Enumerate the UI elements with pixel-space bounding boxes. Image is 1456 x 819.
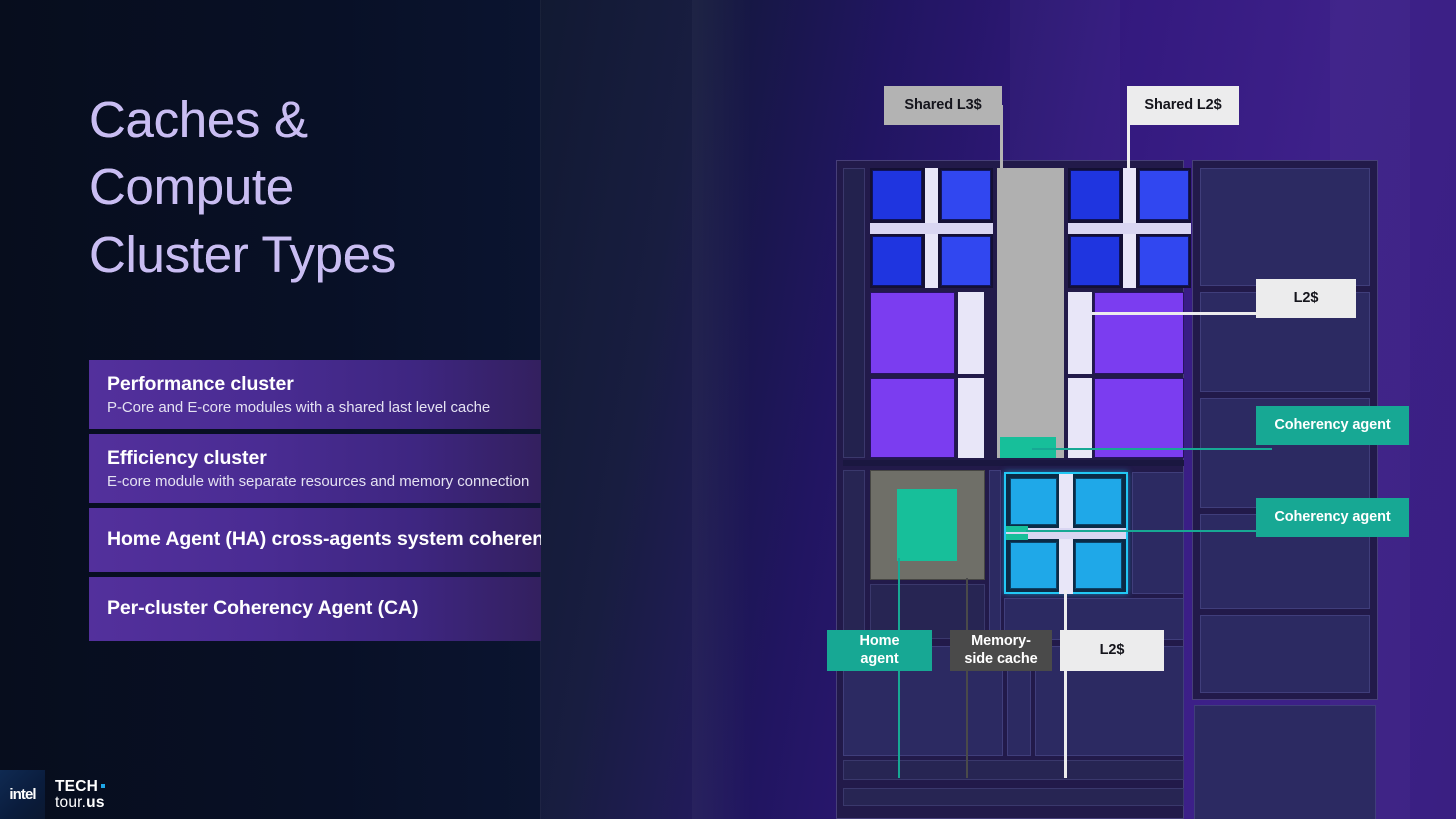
ecore-module-top-right bbox=[1068, 168, 1191, 288]
ecore-core bbox=[1070, 170, 1120, 220]
slide-root: Caches & Compute Cluster Types Performan… bbox=[0, 0, 1456, 819]
callout-label: Shared L3$ bbox=[904, 97, 981, 114]
intel-wordmark: intel bbox=[9, 787, 35, 802]
pcore-l2-cache bbox=[958, 292, 984, 374]
bullet-title: Performance cluster bbox=[107, 373, 541, 396]
tech-tour-wordmark: TECH tour.us bbox=[55, 779, 105, 811]
callout-coherency-agent-1[interactable]: Coherency agent bbox=[1256, 406, 1409, 445]
bullet-list: Performance cluster P-Core and E-core mo… bbox=[89, 360, 541, 646]
tour-text: tour.us bbox=[55, 795, 105, 811]
ecore-core bbox=[1139, 170, 1189, 220]
bullet-title: Per-cluster Coherency Agent (CA) bbox=[107, 597, 541, 620]
pcore-block bbox=[1094, 292, 1184, 374]
shared-l2-cache-horizontal bbox=[1068, 223, 1191, 234]
ecore-core bbox=[1139, 236, 1189, 286]
bullet-item-performance-cluster[interactable]: Performance cluster P-Core and E-core mo… bbox=[89, 360, 541, 429]
coherency-agent-block-efficiency bbox=[1006, 526, 1028, 532]
die-left-io-strip-lower bbox=[843, 470, 865, 640]
pcore-block bbox=[1094, 378, 1184, 458]
tech-text: TECH bbox=[55, 779, 98, 795]
callout-coherency-agent-2[interactable]: Coherency agent bbox=[1256, 498, 1409, 537]
callout-l2-bottom[interactable]: L2$ bbox=[1060, 630, 1164, 671]
die-right-block bbox=[1200, 168, 1370, 286]
page-title: Caches & Compute Cluster Types bbox=[89, 86, 529, 288]
coherency-agent-block-efficiency-2 bbox=[1006, 534, 1028, 540]
leader-line-l2-right bbox=[1092, 312, 1272, 315]
callout-shared-l3[interactable]: Shared L3$ bbox=[884, 86, 1002, 125]
callout-label-line-2: side cache bbox=[964, 651, 1037, 668]
efficiency-cluster-highlight bbox=[1004, 472, 1128, 594]
callout-label-line-2: agent bbox=[860, 651, 898, 668]
die-right-block-lower bbox=[1194, 705, 1376, 819]
ecore-core bbox=[872, 170, 922, 220]
ecore-core bbox=[941, 236, 991, 286]
ecore-core-efficiency bbox=[1010, 478, 1057, 525]
callout-label: L2$ bbox=[1294, 290, 1319, 307]
callout-shared-l2[interactable]: Shared L2$ bbox=[1127, 86, 1239, 125]
bullet-subtitle: P-Core and E-core modules with a shared … bbox=[107, 399, 541, 416]
die-shot-diagram bbox=[836, 160, 1456, 819]
title-line-2: Compute bbox=[89, 153, 529, 220]
ecore-core-efficiency bbox=[1075, 542, 1122, 589]
memory-side-cache-block bbox=[870, 470, 985, 580]
pcore-block bbox=[870, 378, 955, 458]
bullet-title: Home Agent (HA) cross-agents system cohe… bbox=[107, 528, 541, 551]
bullet-item-home-agent[interactable]: Home Agent (HA) cross-agents system cohe… bbox=[89, 508, 541, 572]
callout-home-agent[interactable]: Home agent bbox=[827, 630, 932, 671]
home-agent-block bbox=[897, 489, 957, 561]
callout-label: L2$ bbox=[1100, 642, 1125, 659]
shared-l3-cache-block bbox=[997, 168, 1064, 458]
die-block bbox=[989, 470, 1001, 640]
ecore-module-top-left bbox=[870, 168, 993, 288]
bullet-subtitle: E-core module with separate resources an… bbox=[107, 473, 541, 490]
leader-line-coherency-agent-2 bbox=[1026, 530, 1272, 532]
leader-line-l2-bottom bbox=[1064, 590, 1067, 778]
accent-dot-icon bbox=[101, 784, 105, 788]
intel-logo-tile: intel bbox=[0, 770, 45, 819]
die-io-band-2 bbox=[843, 788, 1184, 806]
die-left-io-strip bbox=[843, 168, 865, 458]
callout-label: Coherency agent bbox=[1274, 509, 1390, 526]
die-divider bbox=[843, 460, 1184, 466]
bullet-title: Efficiency cluster bbox=[107, 447, 541, 470]
callout-memory-side-cache[interactable]: Memory- side cache bbox=[950, 630, 1052, 671]
bullet-item-efficiency-cluster[interactable]: Efficiency cluster E-core module with se… bbox=[89, 434, 541, 503]
ecore-core-efficiency bbox=[1075, 478, 1122, 525]
ecore-core bbox=[941, 170, 991, 220]
background-panel-band-1 bbox=[540, 0, 692, 819]
intel-tech-tour-logo: intel TECH tour.us bbox=[0, 770, 150, 819]
title-line-3: Cluster Types bbox=[89, 221, 529, 288]
pcore-l2-cache bbox=[1068, 378, 1092, 458]
callout-label-line-1: Memory- bbox=[971, 633, 1031, 650]
title-line-1: Caches & bbox=[89, 86, 529, 153]
shared-l2-cache-horizontal bbox=[870, 223, 993, 234]
die-io-band bbox=[843, 760, 1184, 780]
bullet-item-coherency-agent[interactable]: Per-cluster Coherency Agent (CA) bbox=[89, 577, 541, 641]
callout-label: Shared L2$ bbox=[1144, 97, 1221, 114]
callout-label: Coherency agent bbox=[1274, 417, 1390, 434]
die-block bbox=[1132, 472, 1184, 594]
pcore-l2-cache bbox=[1068, 292, 1092, 374]
pcore-block bbox=[870, 292, 955, 374]
pcore-l2-cache bbox=[958, 378, 984, 458]
ecore-core bbox=[872, 236, 922, 286]
ecore-core-efficiency bbox=[1010, 542, 1057, 589]
background-panel-glow bbox=[692, 0, 752, 819]
callout-label-line-1: Home bbox=[860, 633, 900, 650]
leader-line-coherency-agent-1 bbox=[1032, 448, 1272, 450]
ecore-core bbox=[1070, 236, 1120, 286]
leader-line-memory-side-cache bbox=[966, 578, 968, 778]
die-right-block bbox=[1200, 615, 1370, 693]
callout-l2-right[interactable]: L2$ bbox=[1256, 279, 1356, 318]
